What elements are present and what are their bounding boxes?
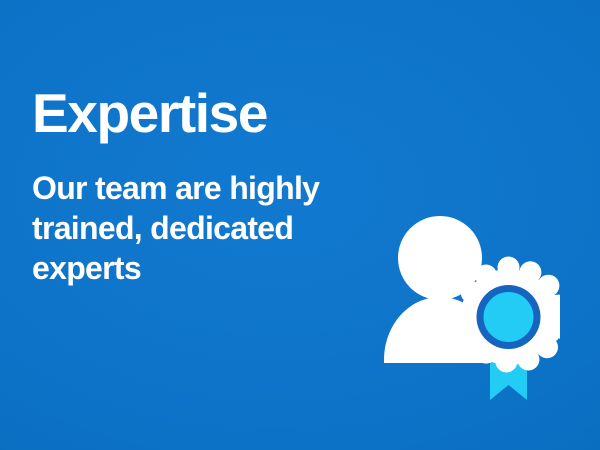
text-block: Expertise Our team are highly trained, d… (32, 84, 382, 288)
page-title: Expertise (32, 84, 382, 142)
person-with-award-badge-icon (360, 205, 560, 410)
expertise-slide: Expertise Our team are highly trained, d… (0, 0, 600, 450)
slide-subtitle: Our team are highly trained, dedicated e… (32, 142, 367, 288)
